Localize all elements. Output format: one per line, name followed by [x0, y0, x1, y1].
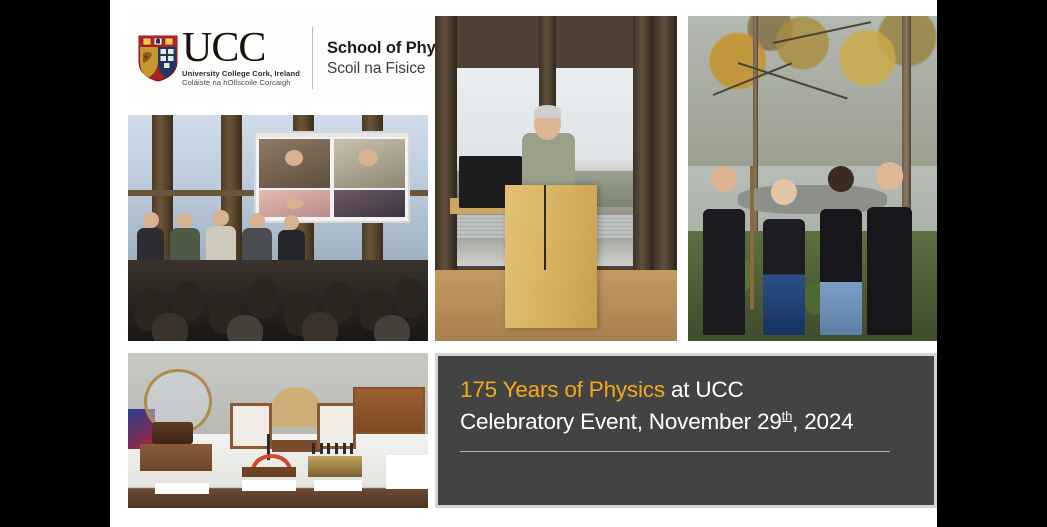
ucc-coat-of-arms-icon [138, 35, 178, 82]
podium-speaker-scene [435, 16, 677, 341]
event-title-banner: 175 Years of Physics at UCC Celebratory … [435, 353, 937, 508]
title-line-2: Celebratory Event, November 29th, 2024 [460, 406, 912, 438]
ucc-logo-lockup: UCC University College Cork, Ireland Col… [128, 14, 433, 102]
tree-planting-scene [688, 16, 937, 341]
ucc-wordmark: UCC [182, 29, 300, 68]
date-ordinal-suffix: th [782, 408, 792, 423]
instrument-mirror-galvanometer [140, 369, 212, 471]
instrument-resistance-box [308, 443, 362, 477]
historic-instruments-photo [128, 353, 428, 508]
title-accent-text: 175 Years of Physics [460, 377, 665, 402]
person-4 [867, 162, 912, 334]
ucc-subtitle-irish: Coláiste na hOllscoile Corcaigh [182, 78, 300, 87]
title-rest-text: at UCC [665, 377, 744, 402]
person-1 [703, 166, 745, 335]
instrument-horseshoe-magnet [242, 434, 296, 477]
podium-speaker-photo [435, 16, 677, 341]
exhibit-label [386, 455, 428, 489]
title-line-1: 175 Years of Physics at UCC [460, 374, 912, 406]
slide-stage: UCC University College Cork, Ireland Col… [0, 0, 1047, 527]
logo-divider [312, 27, 313, 89]
tree-planting-photo [688, 16, 937, 341]
panel-discussion-photo [128, 115, 428, 341]
audience-rows [128, 260, 428, 341]
instrument-display-scene [128, 353, 428, 508]
ucc-wordmark-group: UCC University College Cork, Ireland Col… [182, 29, 300, 88]
wooden-podium [505, 185, 597, 328]
presentation-slide: UCC University College Cork, Ireland Col… [110, 0, 937, 527]
exhibit-label [314, 480, 362, 491]
event-date-prefix: Celebratory Event, November 29 [460, 409, 782, 434]
exhibit-label [155, 483, 209, 494]
video-call-screen [254, 131, 410, 224]
sapling-stake [750, 166, 754, 309]
exhibit-label [242, 480, 296, 491]
banner-horizontal-rule [460, 451, 890, 453]
panel-discussion-scene [128, 115, 428, 341]
event-year: , 2024 [792, 409, 853, 434]
person-2 [763, 179, 805, 335]
instrument-wooden-case [353, 387, 425, 434]
person-3 [820, 166, 862, 335]
ucc-subtitle-english: University College Cork, Ireland [182, 69, 300, 78]
